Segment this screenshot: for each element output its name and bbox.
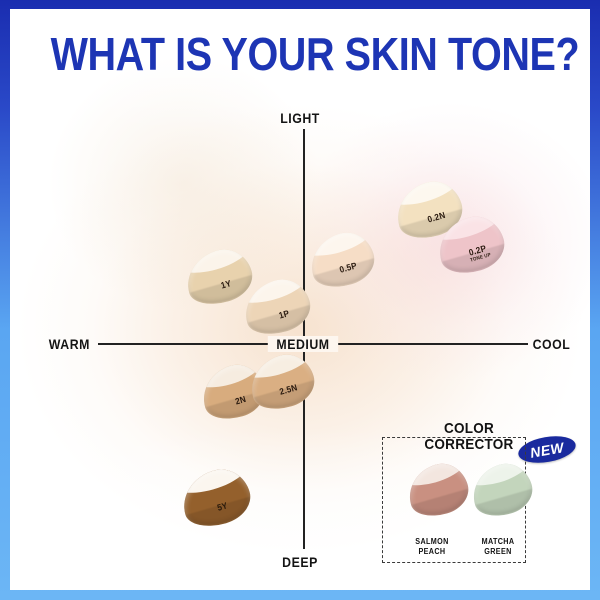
axis-label-warm: WARM — [49, 336, 90, 352]
poster-frame: WHAT IS YOUR SKIN TONE? LIGHT DEEP WARM … — [0, 0, 600, 600]
page-title: WHAT IS YOUR SKIN TONE? — [51, 31, 550, 77]
poster-card: WHAT IS YOUR SKIN TONE? LIGHT DEEP WARM … — [10, 9, 590, 590]
corrector-name-line2: PEACH — [418, 547, 445, 556]
shade-swatch-5y: 5Y — [176, 463, 256, 534]
corrector-name-line1: SALMON — [415, 537, 448, 546]
axis-label-light: LIGHT — [45, 110, 555, 126]
corrector-name-salmon-peach: SALMON PEACH — [400, 537, 465, 557]
corrector-name-line1: MATCHA — [482, 537, 515, 546]
axis-label-cool: COOL — [533, 336, 571, 352]
color-corrector-title-line1: COLOR — [444, 420, 494, 437]
corrector-name-line2: GREEN — [484, 547, 511, 556]
corrector-name-matcha-green: MATCHA GREEN — [466, 537, 531, 557]
shade-swatch-05p: 0.5P — [304, 226, 380, 294]
